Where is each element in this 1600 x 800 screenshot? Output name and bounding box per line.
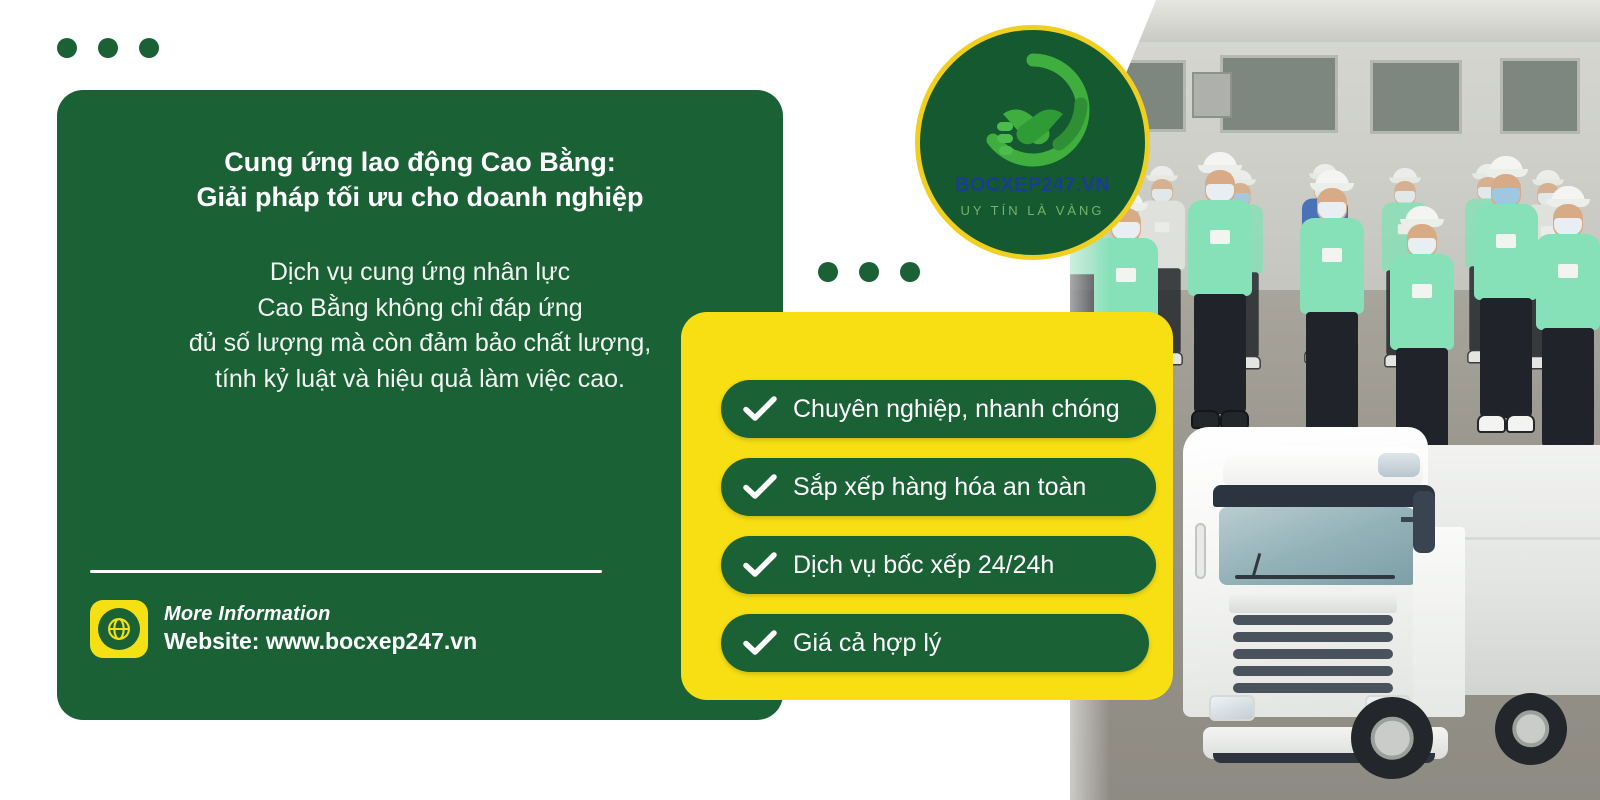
page-title: Cung ứng lao động Cao Bằng: Giải pháp tố… [57,145,783,214]
dot [900,262,920,282]
logo-wordmark: BOCXEP247.VN [955,174,1110,197]
divider [90,570,602,573]
benefit-label: Sắp xếp hàng hóa an toàn [793,473,1086,502]
check-icon [743,630,777,656]
body-line-4: tính kỷ luật và hiệu quả làm việc cao. [57,362,783,398]
dot [98,38,118,58]
benefit-item: Dịch vụ bốc xếp 24/24h [721,536,1156,594]
body-line-1: Dịch vụ cung ứng nhân lực [57,255,783,291]
benefit-label: Dịch vụ bốc xếp 24/24h [793,551,1054,580]
benefit-item: Chuyên nghiệp, nhanh chóng [721,380,1156,438]
more-information-label: More Information [164,603,477,626]
benefit-label: Giá cả hợp lý [793,629,941,658]
intro-card: Cung ứng lao động Cao Bằng: Giải pháp tố… [57,90,783,720]
company-logo[interactable]: BOCXEP247.VN UY TÍN LÀ VÀNG [915,25,1150,260]
promo-banner: Cung ứng lao động Cao Bằng: Giải pháp tố… [0,0,1600,800]
globe-icon [90,600,148,658]
dot [139,38,159,58]
benefit-label: Chuyên nghiệp, nhanh chóng [793,395,1120,424]
logo-tagline: UY TÍN LÀ VÀNG [960,203,1104,218]
benefits-card: Chuyên nghiệp, nhanh chóng Sắp xếp hàng … [681,312,1173,700]
website-label[interactable]: Website: www.bocxep247.vn [164,628,477,655]
body-line-3: đủ số lượng mà còn đảm bảo chất lượng, [57,326,783,362]
dot [57,38,77,58]
check-icon [743,474,777,500]
handshake-circle-icon [963,52,1103,172]
benefit-item: Giá cả hợp lý [721,614,1149,672]
contact-block: More Information Website: www.bocxep247.… [90,600,477,658]
dot [818,262,838,282]
check-icon [743,552,777,578]
intro-body: Dịch vụ cung ứng nhân lực Cao Bằng không… [57,255,783,397]
check-icon [743,396,777,422]
benefit-item: Sắp xếp hàng hóa an toàn [721,458,1156,516]
dot [859,262,879,282]
headline-line-2: Giải pháp tối ưu cho doanh nghiệp [57,180,783,215]
truck-image [1165,405,1600,800]
decorative-dots-top-left [57,38,159,58]
decorative-dots-middle [818,262,920,282]
body-line-2: Cao Bằng không chỉ đáp ứng [57,291,783,327]
headline-line-1: Cung ứng lao động Cao Bằng: [57,145,783,180]
